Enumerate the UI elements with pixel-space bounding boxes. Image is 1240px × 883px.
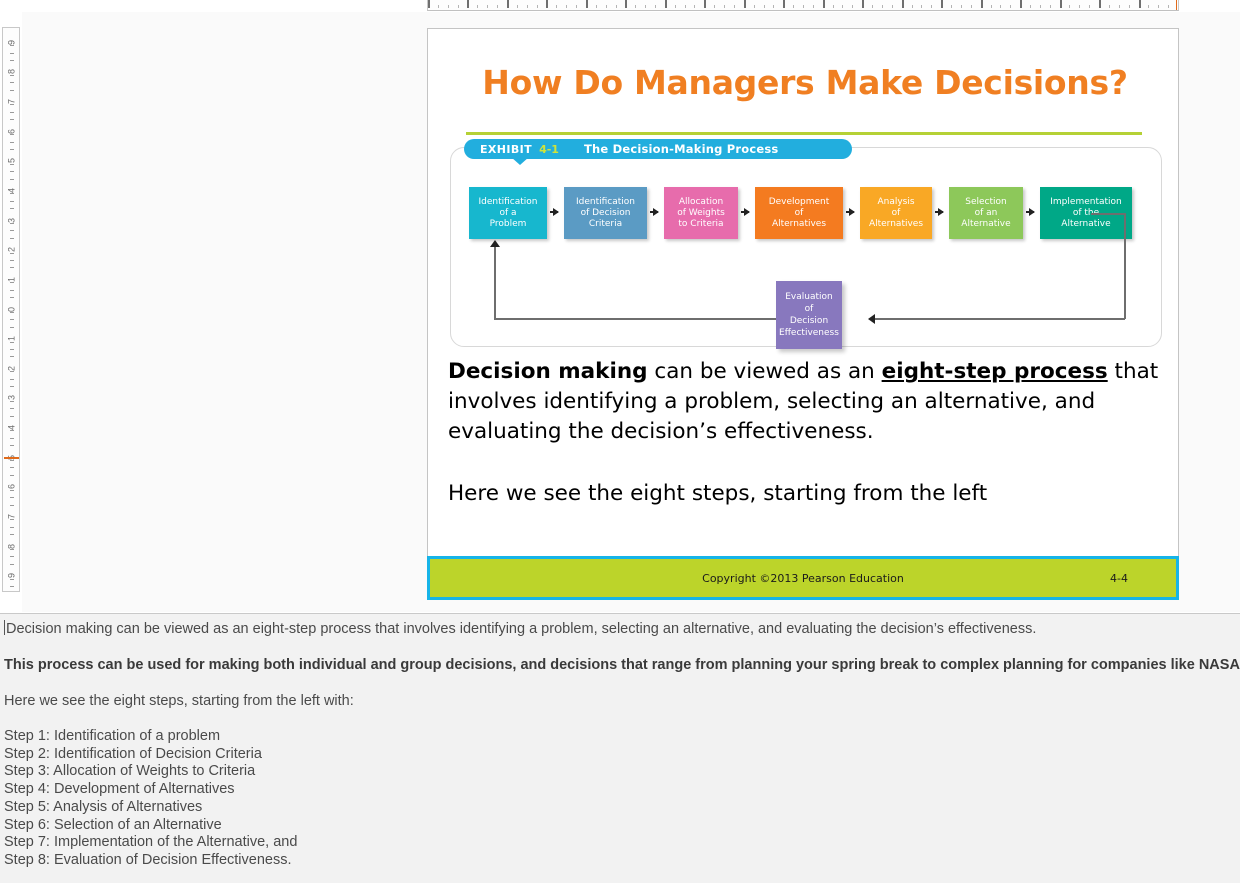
ruler-tick	[10, 238, 14, 239]
vertical-ruler[interactable]: 9876543210123456789	[2, 27, 20, 592]
ruler-tick	[10, 475, 14, 476]
ruler-tick	[1010, 5, 1011, 8]
ruler-tick	[714, 5, 715, 8]
ruler-tick	[497, 5, 498, 8]
ruler-tick	[616, 5, 617, 8]
ruler-tick	[10, 260, 14, 261]
ruler-tick	[10, 193, 14, 194]
slide-footer-bar: Copyright ©2013 Pearson Education 4-4	[427, 556, 1179, 600]
ruler-tick	[10, 430, 14, 431]
ruler-tick	[10, 371, 14, 372]
ruler-tick	[10, 586, 14, 587]
ruler-tick	[1158, 5, 1159, 8]
ruler-tick	[951, 5, 952, 8]
ruler-tick	[921, 5, 922, 8]
slide-body-paragraph-2[interactable]: Here we see the eight steps, starting fr…	[448, 479, 1160, 509]
feedback-arrow-into-step1-icon	[490, 240, 500, 247]
ruler-tick	[10, 327, 14, 328]
ruler-tick	[941, 0, 943, 8]
process-step-label-line: Alternative	[961, 219, 1010, 230]
ruler-tick	[1000, 5, 1001, 8]
process-flow-row: Identificationof aProblemIdentificationo…	[460, 187, 1160, 239]
evaluation-step-box[interactable]: EvaluationofDecisionEffectiveness	[776, 281, 842, 349]
ruler-tick	[10, 356, 14, 357]
notes-step-item: Step 2: Identification of Decision Crite…	[4, 746, 1236, 764]
process-step-label-line: of a	[499, 208, 516, 219]
ruler-tick	[1079, 5, 1080, 8]
process-step-label-line: Identification	[478, 197, 537, 208]
ruler-tick	[517, 5, 518, 8]
notes-step-item: Step 7: Implementation of the Alternativ…	[4, 834, 1236, 852]
feedback-loop-left-vertical	[494, 247, 496, 319]
process-step-label-line: of Weights	[677, 208, 725, 219]
process-step-label-line: Criteria	[589, 219, 622, 230]
ruler-tick	[10, 149, 14, 150]
process-step-label-line: Alternatives	[772, 219, 826, 230]
ruler-tick	[566, 5, 567, 8]
notes-step-item: Step 1: Identification of a problem	[4, 728, 1236, 746]
process-step-label-line: to Criteria	[678, 219, 723, 230]
feedback-arrow-into-eval-icon	[868, 314, 875, 324]
process-step-box[interactable]: Selectionof anAlternative	[949, 187, 1023, 239]
ruler-number: 8	[8, 537, 17, 555]
ruler-number: 2	[8, 359, 17, 377]
ruler-tick	[606, 5, 607, 8]
ruler-tick	[10, 179, 14, 180]
ruler-tick	[556, 5, 557, 8]
process-arrow-icon	[846, 211, 854, 213]
notes-step-item: Step 5: Analysis of Alternatives	[4, 799, 1236, 817]
process-step-box[interactable]: Identificationof DecisionCriteria	[564, 187, 647, 239]
ruler-tick	[694, 5, 695, 8]
ruler-tick	[10, 201, 14, 202]
ruler-tick	[10, 45, 14, 46]
ruler-tick	[1069, 5, 1070, 8]
ruler-tick	[1020, 0, 1022, 8]
slide-title[interactable]: How Do Managers Make Decisions?	[452, 63, 1158, 102]
ruler-tick	[10, 208, 14, 209]
ruler-tick	[10, 290, 14, 291]
body-bold-decision-making: Decision making	[448, 359, 648, 384]
process-step-box[interactable]: Allocationof Weightsto Criteria	[664, 187, 738, 239]
process-step-label-line: Alternatives	[869, 219, 923, 230]
ruler-tick	[10, 349, 14, 350]
notes-spacer-2	[4, 674, 1236, 692]
ruler-number: 1	[8, 270, 17, 288]
ruler-tick	[10, 312, 14, 313]
process-arrow-icon	[650, 211, 658, 213]
notes-paragraph-1-text: Decision making can be viewed as an eigh…	[6, 621, 1036, 637]
ruler-tick	[1099, 0, 1101, 8]
ruler-tick	[10, 297, 14, 298]
ruler-tick	[961, 5, 962, 8]
ruler-tick	[10, 142, 14, 143]
process-step-label-line: Identification	[576, 197, 635, 208]
ruler-tick	[10, 519, 14, 520]
ruler-tick	[546, 0, 548, 8]
feedback-loop-top-right	[1091, 213, 1125, 215]
ruler-tick	[537, 5, 538, 8]
ruler-tick	[971, 5, 972, 8]
ruler-tick	[675, 5, 676, 8]
ruler-tick	[10, 386, 14, 387]
ruler-number: 1	[8, 330, 17, 348]
ruler-number: 6	[8, 478, 17, 496]
ruler-tick	[1129, 5, 1130, 8]
ruler-tick	[10, 104, 14, 105]
ruler-number: 7	[8, 507, 17, 525]
ruler-tick	[625, 0, 627, 8]
ruler-tick	[10, 564, 14, 565]
notes-paragraph-2[interactable]: This process can be used for making both…	[4, 656, 1236, 674]
ruler-tick	[10, 90, 14, 91]
ruler-number: 4	[8, 181, 17, 199]
ruler-tick	[842, 5, 843, 8]
notes-step-item: Step 3: Allocation of Weights to Criteri…	[4, 763, 1236, 781]
ruler-tick	[1040, 5, 1041, 8]
ruler-tick	[487, 5, 488, 8]
process-step-label-line: Selection	[965, 197, 1006, 208]
notes-paragraph-1[interactable]: Decision making can be viewed as an eigh…	[4, 620, 1236, 638]
slide[interactable]: How Do Managers Make Decisions? EXHIBIT …	[427, 28, 1179, 600]
ruler-tick	[852, 5, 853, 8]
ruler-tick	[10, 401, 14, 402]
notes-step-item: Step 6: Selection of an Alternative	[4, 817, 1236, 835]
ruler-tick	[10, 556, 14, 557]
ruler-tick	[1030, 5, 1031, 8]
ruler-tick	[635, 5, 636, 8]
ruler-tick	[10, 53, 14, 54]
process-step-label-line: Allocation	[679, 197, 723, 208]
ruler-tick	[872, 5, 873, 8]
ruler-tick	[10, 579, 14, 580]
ruler-tick	[744, 0, 746, 8]
ruler-tick	[991, 5, 992, 8]
ruler-tick	[1050, 5, 1051, 8]
exhibit-banner: EXHIBIT 4-1 The Decision-Making Process	[464, 139, 852, 159]
ruler-tick	[10, 75, 14, 76]
powerpoint-editor-window: 9876543210123456789 How Do Managers Make…	[0, 0, 1240, 883]
ruler-tick	[665, 0, 667, 8]
ruler-tick	[438, 5, 439, 8]
ruler-tick	[10, 445, 14, 446]
ruler-tick	[10, 134, 14, 135]
ruler-tick	[754, 5, 755, 8]
process-step-label-line: of an	[975, 208, 998, 219]
ruler-tick	[10, 467, 14, 468]
ruler-tick	[10, 282, 14, 283]
ruler-number: 5	[8, 152, 17, 170]
ruler-tick	[862, 0, 864, 8]
process-step-label-line: Alternative	[1061, 219, 1110, 230]
ruler-tick	[10, 253, 14, 254]
ruler-tick	[10, 164, 14, 165]
ruler-number: 9	[8, 567, 17, 585]
ruler-tick	[10, 379, 14, 380]
feedback-loop-bottom-right	[875, 318, 1125, 320]
ruler-tick	[655, 5, 656, 8]
process-arrow-icon	[1026, 211, 1034, 213]
body-text-segment-2: can be viewed as an	[648, 359, 882, 384]
ruler-tick	[10, 119, 14, 120]
ruler-number: 3	[8, 211, 17, 229]
ruler-tick	[10, 460, 14, 461]
process-arrow-icon	[741, 211, 749, 213]
ruler-tick	[10, 408, 14, 409]
ruler-tick	[10, 112, 14, 113]
process-step-label-line: of Decision	[581, 208, 631, 219]
ruler-tick	[892, 5, 893, 8]
ruler-tick	[428, 0, 430, 8]
ruler-tick	[882, 5, 883, 8]
notes-step-list[interactable]: Step 1: Identification of a problemStep …	[4, 728, 1236, 870]
ruler-tick	[10, 490, 14, 491]
slide-body-paragraph-1[interactable]: Decision making can be viewed as an eigh…	[448, 357, 1160, 447]
ruler-tick	[10, 534, 14, 535]
ruler-tick	[1109, 5, 1110, 8]
ruler-tick	[10, 171, 14, 172]
ruler-tick	[1148, 5, 1149, 8]
ruler-tick	[931, 5, 932, 8]
body-bold-underline-eight-step: eight-step process	[882, 359, 1108, 384]
ruler-tick	[704, 0, 706, 8]
ruler-tick	[773, 5, 774, 8]
footer-page-number: 4-4	[1110, 572, 1128, 585]
ruler-tick	[596, 5, 597, 8]
ruler-tick	[833, 5, 834, 8]
ruler-tick	[793, 5, 794, 8]
ruler-number: 0	[8, 300, 17, 318]
ruler-tick	[10, 527, 14, 528]
process-arrow-icon	[935, 211, 943, 213]
ruler-number: 6	[8, 122, 17, 140]
process-step-box[interactable]: AnalysisofAlternatives	[860, 187, 932, 239]
process-step-label-line: Problem	[490, 219, 527, 230]
ruler-tick	[1089, 5, 1090, 8]
ruler-tick	[981, 0, 983, 8]
title-underline-rule	[466, 132, 1142, 135]
ruler-tick	[10, 223, 14, 224]
ruler-tick	[803, 5, 804, 8]
ruler-tick	[1168, 5, 1169, 8]
ruler-number: 3	[8, 389, 17, 407]
evaluation-step-label-line: of	[805, 303, 814, 315]
exhibit-title: The Decision-Making Process	[584, 142, 779, 156]
process-step-label-line: of	[795, 208, 804, 219]
ruler-tick	[477, 5, 478, 8]
notes-spacer-3	[4, 710, 1236, 728]
ruler-tick	[10, 549, 14, 550]
ruler-tick	[10, 230, 14, 231]
text-cursor	[4, 620, 5, 635]
process-step-label-line: of	[892, 208, 901, 219]
evaluation-step-label-line: Decision	[790, 315, 828, 327]
notes-step-item: Step 8: Evaluation of Decision Effective…	[4, 852, 1236, 870]
slide-canvas[interactable]: How Do Managers Make Decisions? EXHIBIT …	[22, 12, 1240, 612]
notes-step-item: Step 4: Development of Alternatives	[4, 781, 1236, 799]
ruler-tick	[10, 505, 14, 506]
ruler-tick	[527, 5, 528, 8]
notes-pane[interactable]: Decision making can be viewed as an eigh…	[0, 613, 1240, 883]
exhibit-diagram[interactable]: EXHIBIT 4-1 The Decision-Making Process …	[450, 147, 1162, 347]
ruler-tick	[10, 60, 14, 61]
process-step-box[interactable]: DevelopmentofAlternatives	[755, 187, 843, 239]
ruler-tick	[724, 5, 725, 8]
ruler-number: 7	[8, 93, 17, 111]
ruler-tick	[10, 342, 14, 343]
exhibit-label: EXHIBIT	[480, 143, 532, 156]
evaluation-step-label-line: Effectiveness	[779, 327, 839, 339]
ruler-tick	[10, 267, 14, 268]
footer-copyright: Copyright ©2013 Pearson Education	[430, 572, 1176, 585]
ruler-tick	[576, 5, 577, 8]
process-step-box[interactable]: Identificationof aProblem	[469, 187, 547, 239]
notes-spacer-1	[4, 638, 1236, 656]
ruler-tick	[685, 5, 686, 8]
ruler-number: 4	[8, 419, 17, 437]
ruler-tick	[1119, 5, 1120, 8]
ruler-tick	[764, 5, 765, 8]
ruler-tick	[10, 497, 14, 498]
ruler-tick	[1139, 0, 1141, 8]
ruler-tick	[734, 5, 735, 8]
ruler-tick	[813, 5, 814, 8]
feedback-loop-bottom-left	[494, 318, 809, 320]
ruler-tick	[1178, 0, 1179, 8]
horizontal-ruler[interactable]	[427, 0, 1179, 11]
ruler-number: 8	[8, 63, 17, 81]
ruler-number: 2	[8, 241, 17, 259]
ruler-tick	[902, 0, 904, 8]
process-arrow-icon	[550, 211, 558, 213]
process-step-label-line: Implementation	[1050, 197, 1121, 208]
exhibit-number: 4-1	[539, 143, 559, 156]
ruler-tick	[10, 416, 14, 417]
ruler-tick	[458, 5, 459, 8]
ruler-tick	[448, 5, 449, 8]
process-step-label-line: Development	[769, 197, 830, 208]
ruler-tick	[586, 0, 588, 8]
ruler-cursor-marker	[4, 457, 20, 459]
ruler-tick	[467, 0, 469, 8]
ruler-tick	[507, 0, 509, 8]
process-step-label-line: Analysis	[877, 197, 914, 208]
ruler-tick	[823, 0, 825, 8]
ruler-tick	[1060, 0, 1062, 8]
ruler-tick	[10, 438, 14, 439]
banner-notch-icon	[511, 157, 529, 165]
ruler-tick	[912, 5, 913, 8]
ruler-number: 9	[8, 33, 17, 51]
ruler-cursor-marker	[1176, 0, 1177, 10]
ruler-tick	[10, 319, 14, 320]
ruler-tick	[783, 0, 785, 8]
ruler-tick	[645, 5, 646, 8]
feedback-loop-right-vertical	[1124, 213, 1126, 319]
ruler-tick	[10, 82, 14, 83]
notes-paragraph-3[interactable]: Here we see the eight steps, starting fr…	[4, 692, 1236, 710]
evaluation-step-label-line: Evaluation	[785, 291, 833, 303]
